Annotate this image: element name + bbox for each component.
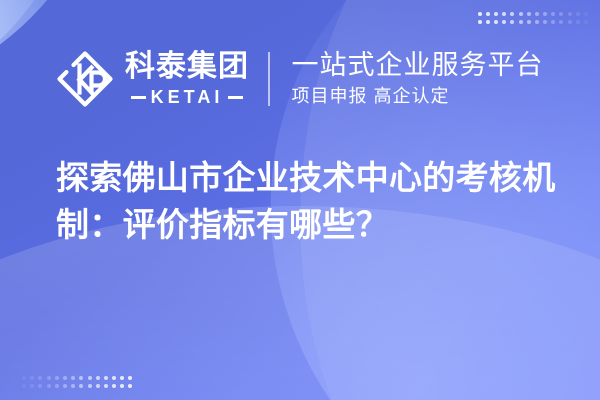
decor-dot (502, 20, 506, 24)
banner-header: 科泰集团 KETAI 一站式企业服务平台 项目申报 高企认定 (0, 40, 600, 118)
decor-dot (88, 376, 92, 380)
brand-wordmark: 科泰集团 KETAI (125, 52, 249, 106)
decor-dot (519, 12, 523, 16)
decor-dot (568, 20, 572, 24)
decor-dot (559, 20, 563, 24)
decor-dot (88, 384, 92, 388)
decor-dot (535, 20, 539, 24)
decor-dot (71, 376, 75, 380)
decor-dot (527, 12, 531, 16)
decor-dot (519, 20, 523, 24)
decor-dot (478, 20, 482, 24)
dash-right-icon (228, 96, 243, 99)
decor-dot (63, 384, 67, 388)
decor-dot (71, 384, 75, 388)
dot-grid-bottom-left (22, 376, 132, 388)
decor-dot (543, 12, 547, 16)
decor-dot (576, 20, 580, 24)
decor-dot (494, 12, 498, 16)
tagline-secondary: 项目申报 高企认定 (292, 87, 544, 107)
decor-dot (128, 384, 132, 388)
decor-dot (22, 384, 26, 388)
brand-name-cn: 科泰集团 (125, 52, 249, 82)
decor-dot (112, 384, 116, 388)
decor-dot (510, 12, 514, 16)
decor-dot (55, 376, 59, 380)
decor-dot (38, 376, 42, 380)
decor-dot (584, 20, 588, 24)
decor-dot (22, 376, 26, 380)
decor-dot (568, 12, 572, 16)
dot-row (22, 376, 132, 380)
decor-dot (502, 12, 506, 16)
brand-name-en-row: KETAI (131, 88, 244, 106)
decor-dot (96, 384, 100, 388)
decor-dot (486, 20, 490, 24)
ketai-kp-monogram-icon (54, 48, 116, 110)
decor-dot (535, 12, 539, 16)
decor-dot (96, 376, 100, 380)
header-divider (268, 52, 270, 106)
decor-dot (47, 376, 51, 380)
decor-dot (104, 376, 108, 380)
decor-dot (79, 384, 83, 388)
decor-dot (486, 12, 490, 16)
decor-dot (30, 384, 34, 388)
dash-left-icon (131, 96, 146, 99)
decor-dot (478, 12, 482, 16)
decor-dot (543, 20, 547, 24)
dot-row (478, 12, 588, 16)
dot-row (478, 20, 588, 24)
decor-dot (527, 20, 531, 24)
brand-logo[interactable]: 科泰集团 KETAI (54, 48, 249, 110)
decor-dot (510, 20, 514, 24)
decor-dot (128, 376, 132, 380)
decor-dot (551, 20, 555, 24)
dot-grid-top-right (478, 12, 588, 24)
decor-dot (494, 20, 498, 24)
decor-dot (120, 384, 124, 388)
decor-dot (104, 384, 108, 388)
decor-dot (55, 384, 59, 388)
decor-dot (559, 12, 563, 16)
decor-dot (120, 376, 124, 380)
decor-dot (30, 376, 34, 380)
decor-dot (38, 384, 42, 388)
brand-name-en: KETAI (151, 88, 224, 106)
decor-dot (63, 376, 67, 380)
headline-title: 探索佛山市企业技术中心的考核机制：评价指标有哪些？ (56, 155, 556, 249)
tagline-block: 一站式企业服务平台 项目申报 高企认定 (292, 51, 544, 107)
decor-dot (576, 12, 580, 16)
decor-dot (47, 384, 51, 388)
decor-dot (79, 376, 83, 380)
decor-dot (584, 12, 588, 16)
promo-banner: 科泰集团 KETAI 一站式企业服务平台 项目申报 高企认定 探索佛山市企业技术… (0, 0, 600, 400)
decor-dot (551, 12, 555, 16)
dot-row (22, 384, 132, 388)
decor-dot (112, 376, 116, 380)
tagline-primary: 一站式企业服务平台 (292, 51, 544, 80)
